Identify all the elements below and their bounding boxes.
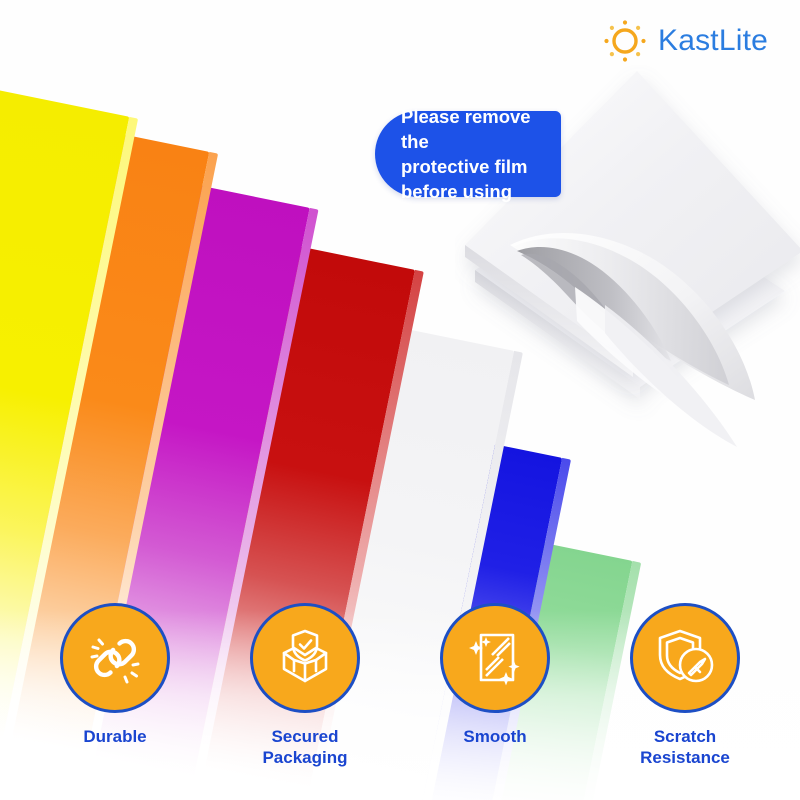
feature-scratch-resistance: Scratch Resistance bbox=[625, 603, 745, 768]
product-image: KastLite Please remove the protective fi… bbox=[0, 0, 800, 800]
feature-icon-circle bbox=[630, 603, 740, 713]
feature-smooth: Smooth bbox=[435, 603, 555, 747]
brand-name: KastLite bbox=[658, 24, 768, 58]
feature-label: Scratch Resistance bbox=[640, 726, 730, 768]
shield-blade-icon bbox=[652, 625, 718, 691]
sparkle-panel-icon bbox=[462, 625, 528, 691]
remove-film-callout: Please remove the protective film before… bbox=[375, 111, 561, 197]
feature-icon-circle bbox=[250, 603, 360, 713]
sun-icon bbox=[602, 18, 648, 64]
feature-label: Smooth bbox=[463, 726, 526, 747]
shield-box-icon bbox=[272, 625, 338, 691]
brand-logo: KastLite bbox=[602, 18, 768, 64]
chain-link-icon bbox=[82, 625, 148, 691]
feature-secured-packaging: Secured Packaging bbox=[245, 603, 365, 768]
feature-list: Durable Secured Packaging bbox=[0, 603, 800, 768]
feature-durable: Durable bbox=[55, 603, 175, 747]
callout-text: Please remove the protective film before… bbox=[401, 104, 551, 204]
feature-icon-circle bbox=[440, 603, 550, 713]
feature-icon-circle bbox=[60, 603, 170, 713]
feature-label: Secured Packaging bbox=[262, 726, 347, 768]
feature-label: Durable bbox=[83, 726, 146, 747]
